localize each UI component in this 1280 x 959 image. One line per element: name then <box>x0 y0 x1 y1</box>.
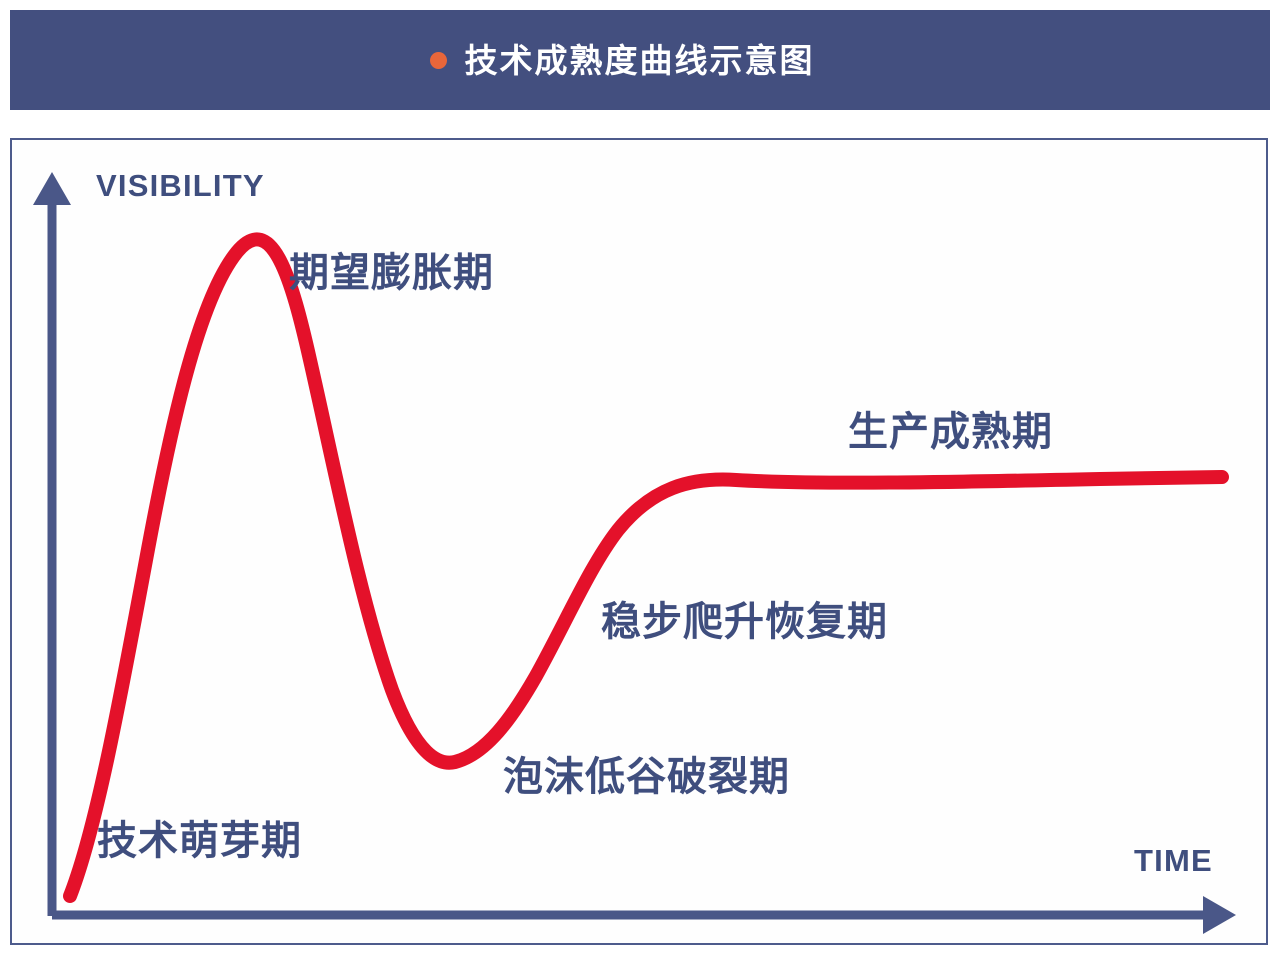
page-root: 技术成熟度曲线示意图 VISIBILITY TIME 期望膨胀期 生产成熟期 稳… <box>0 0 1280 959</box>
y-axis-label: VISIBILITY <box>96 170 265 201</box>
title-bar-content: 技术成熟度曲线示意图 <box>430 44 815 77</box>
annotation-trough-of-disillusionment: 泡沫低谷破裂期 <box>503 757 790 797</box>
orange-dot-icon <box>430 52 447 69</box>
title-bar: 技术成熟度曲线示意图 <box>10 10 1270 110</box>
x-axis-label: TIME <box>1134 845 1213 876</box>
page-title: 技术成熟度曲线示意图 <box>465 44 815 77</box>
annotation-innovation-trigger: 技术萌芽期 <box>97 821 302 861</box>
annotation-slope-of-enlightenment: 稳步爬升恢复期 <box>601 602 888 642</box>
annotation-peak-of-inflated-expectations: 期望膨胀期 <box>289 253 494 293</box>
annotation-plateau-of-productivity: 生产成熟期 <box>848 412 1053 452</box>
